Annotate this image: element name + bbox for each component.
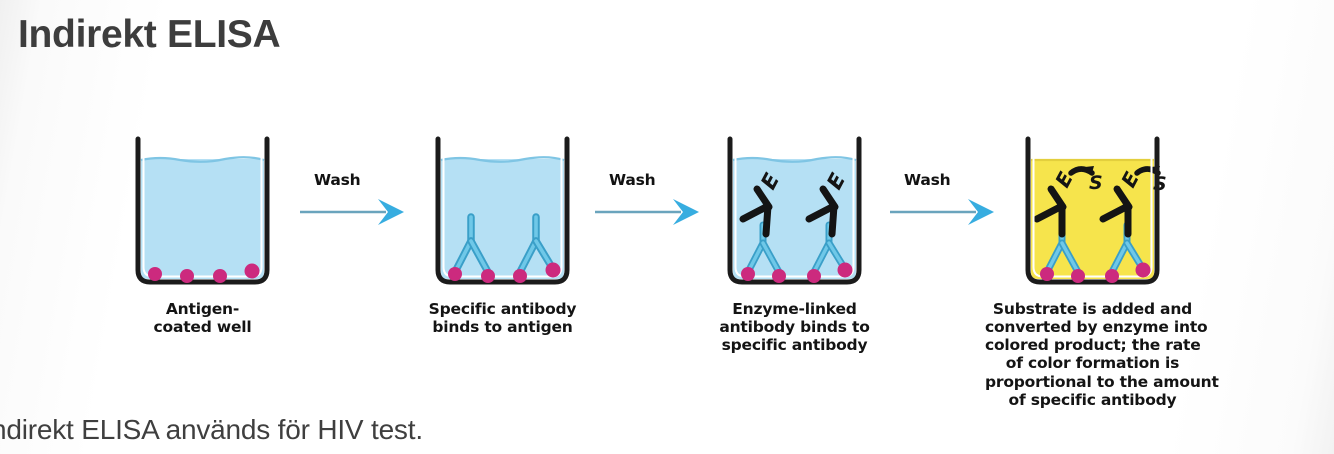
well-2-graphic [415, 133, 590, 291]
antigen-dot [1040, 267, 1054, 281]
wash-step-3: Wash [890, 171, 1010, 233]
liquid-fill [141, 159, 264, 279]
step-enzyme-linked-antibody: E E Enzyme-linked ant [687, 133, 902, 354]
slide-body-text: ndirekt ELISA används för HIV test. [0, 414, 423, 446]
caption-line: Substrate is added and [985, 300, 1200, 318]
antigen-dot [180, 269, 194, 283]
wash-arrow-icon [595, 197, 705, 227]
well-2 [415, 133, 590, 291]
antigen-dot [448, 267, 462, 281]
antigen-dot [1105, 269, 1119, 283]
antigen-dot [481, 269, 495, 283]
step-1-caption: Antigen- coated well [95, 300, 310, 336]
wash-arrow-icon [890, 197, 1000, 227]
slide-canvas: Indirekt ELISA [0, 0, 1334, 454]
antigen-dot [245, 264, 260, 279]
step-2-caption: Specific antibody binds to antigen [395, 300, 610, 336]
step-substrate-added: E S E S [985, 133, 1200, 409]
caption-line: Enzyme-linked [687, 300, 902, 318]
well-3: E E [707, 133, 882, 291]
step-3-caption: Enzyme-linked antibody binds to specific… [687, 300, 902, 354]
wash-label: Wash [314, 171, 360, 189]
caption-line: of specific antibody [985, 391, 1200, 409]
well-4-graphic: E S E S [1005, 133, 1180, 291]
substrate-label-S: S [1089, 172, 1103, 194]
antigen-dot [838, 263, 853, 278]
caption-line: Specific antibody [395, 300, 610, 318]
caption-line: specific antibody [687, 336, 902, 354]
wash-label: Wash [609, 171, 655, 189]
step-specific-antibody-binds: Specific antibody binds to antigen [395, 133, 610, 336]
caption-line: of color formation is [985, 354, 1200, 372]
well-3-graphic: E E [707, 133, 882, 291]
well-1-graphic [115, 133, 290, 291]
caption-line: converted by enzyme into [985, 318, 1200, 336]
wash-step-2: Wash [595, 171, 715, 233]
wash-step-1: Wash [300, 171, 420, 233]
caption-line: proportional to the amount [985, 373, 1200, 391]
caption-line: Antigen- [95, 300, 310, 318]
well-4: E S E S [1005, 133, 1180, 291]
caption-line: colored product; the rate [985, 336, 1200, 354]
antigen-dot [148, 267, 162, 281]
caption-line: binds to antigen [395, 318, 610, 336]
caption-line: coated well [95, 318, 310, 336]
antigen-dot [741, 267, 755, 281]
wash-arrow-icon [300, 197, 410, 227]
antigen-dot [772, 269, 786, 283]
well-1 [115, 133, 290, 291]
page-title: Indirekt ELISA [18, 14, 280, 57]
antigen-dot [1071, 269, 1085, 283]
antigen-dot [513, 269, 527, 283]
antigen-dot [213, 269, 227, 283]
antigen-dot [807, 269, 821, 283]
caption-line: antibody binds to [687, 318, 902, 336]
elisa-diagram: Antigen- coated well [95, 133, 1295, 433]
step-antigen-coated-well: Antigen- coated well [95, 133, 310, 336]
step-4-caption: Substrate is added and converted by enzy… [985, 300, 1200, 409]
antigen-dot [1136, 263, 1151, 278]
wash-label: Wash [904, 171, 950, 189]
antigen-dot [546, 263, 561, 278]
